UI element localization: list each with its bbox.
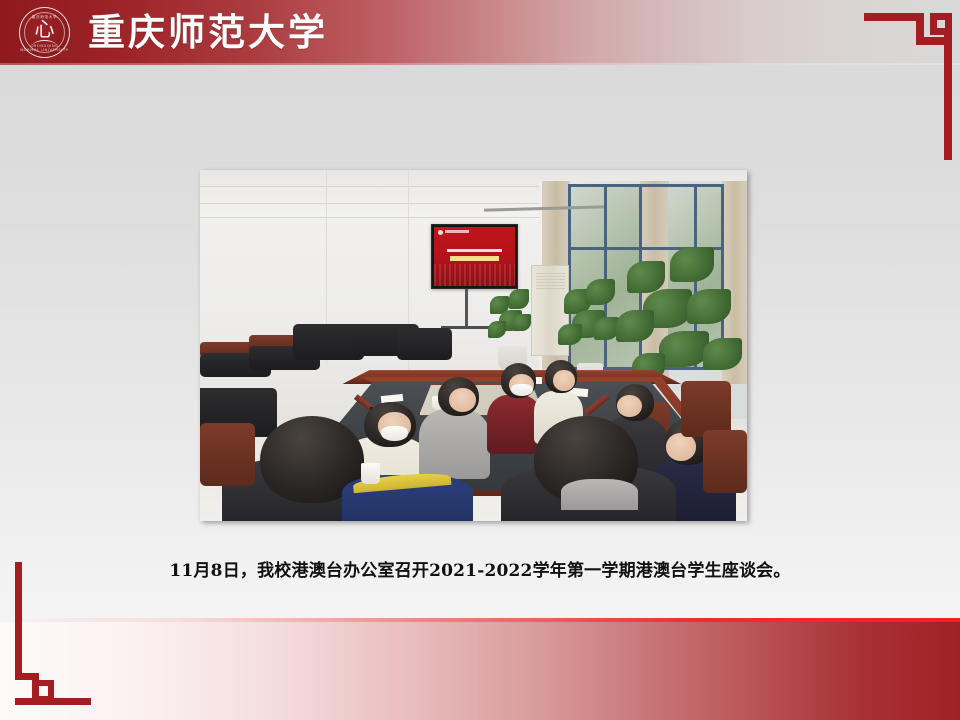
plant-leaf xyxy=(687,289,731,324)
staff-face xyxy=(617,395,642,418)
corner-ornament-bottom-left-icon xyxy=(15,562,95,712)
conference-chair xyxy=(681,381,730,437)
plant-leaf xyxy=(627,261,665,293)
face-mask xyxy=(381,426,408,441)
university-name-title: 重庆师范大学 xyxy=(88,6,328,58)
conference-chair xyxy=(703,430,747,493)
screen-stand xyxy=(465,289,468,328)
staff-face xyxy=(666,433,696,461)
footer-band xyxy=(0,622,960,720)
ornament-bar xyxy=(15,698,91,705)
ornament-square xyxy=(930,13,952,35)
slide-skyline-graphic xyxy=(434,264,514,286)
paper-cup xyxy=(361,463,380,484)
presentation-screen xyxy=(431,224,517,289)
ornament-bar xyxy=(864,13,924,21)
header-banner: 重庆师范大学 心 CHONGQING NORMAL UNIVERSITY 重庆师… xyxy=(0,0,960,65)
plant-leaf xyxy=(703,338,741,370)
screen-slide xyxy=(434,227,514,286)
corner-ornament-top-right-icon xyxy=(864,8,952,160)
university-seal-icon: 重庆师范大学 心 CHONGQING NORMAL UNIVERSITY xyxy=(19,7,70,58)
student-person xyxy=(419,409,490,479)
meeting-photo xyxy=(200,170,747,521)
seal-center-glyph: 心 xyxy=(20,19,69,39)
student-face xyxy=(553,370,575,391)
presentation-slide: 重庆师范大学 心 CHONGQING NORMAL UNIVERSITY 重庆师… xyxy=(0,0,960,720)
side-chair xyxy=(397,328,452,360)
hood-detail xyxy=(561,479,638,511)
slide-title-line-2 xyxy=(450,256,498,261)
photo-scene xyxy=(200,170,747,521)
conference-chair xyxy=(200,423,255,486)
window-frame xyxy=(568,184,722,187)
plant-leaf xyxy=(616,310,654,342)
ornament-bar xyxy=(944,35,952,160)
face-mask xyxy=(511,384,533,396)
ornament-bar xyxy=(15,562,22,680)
seal-arc-bottom-text: CHONGQING NORMAL UNIVERSITY xyxy=(20,44,69,52)
slide-title-line-1 xyxy=(447,249,502,252)
plant-leaf xyxy=(509,289,529,308)
slide-logo-icon xyxy=(438,230,443,235)
photo-caption: 11月8日，我校港澳台办公室召开2021-2022学年第一学期港澳台学生座谈会。 xyxy=(0,556,960,581)
plant-leaf xyxy=(659,331,708,366)
student-face xyxy=(449,388,476,413)
slide-logo-text xyxy=(445,230,469,233)
ac-vent xyxy=(536,273,565,289)
